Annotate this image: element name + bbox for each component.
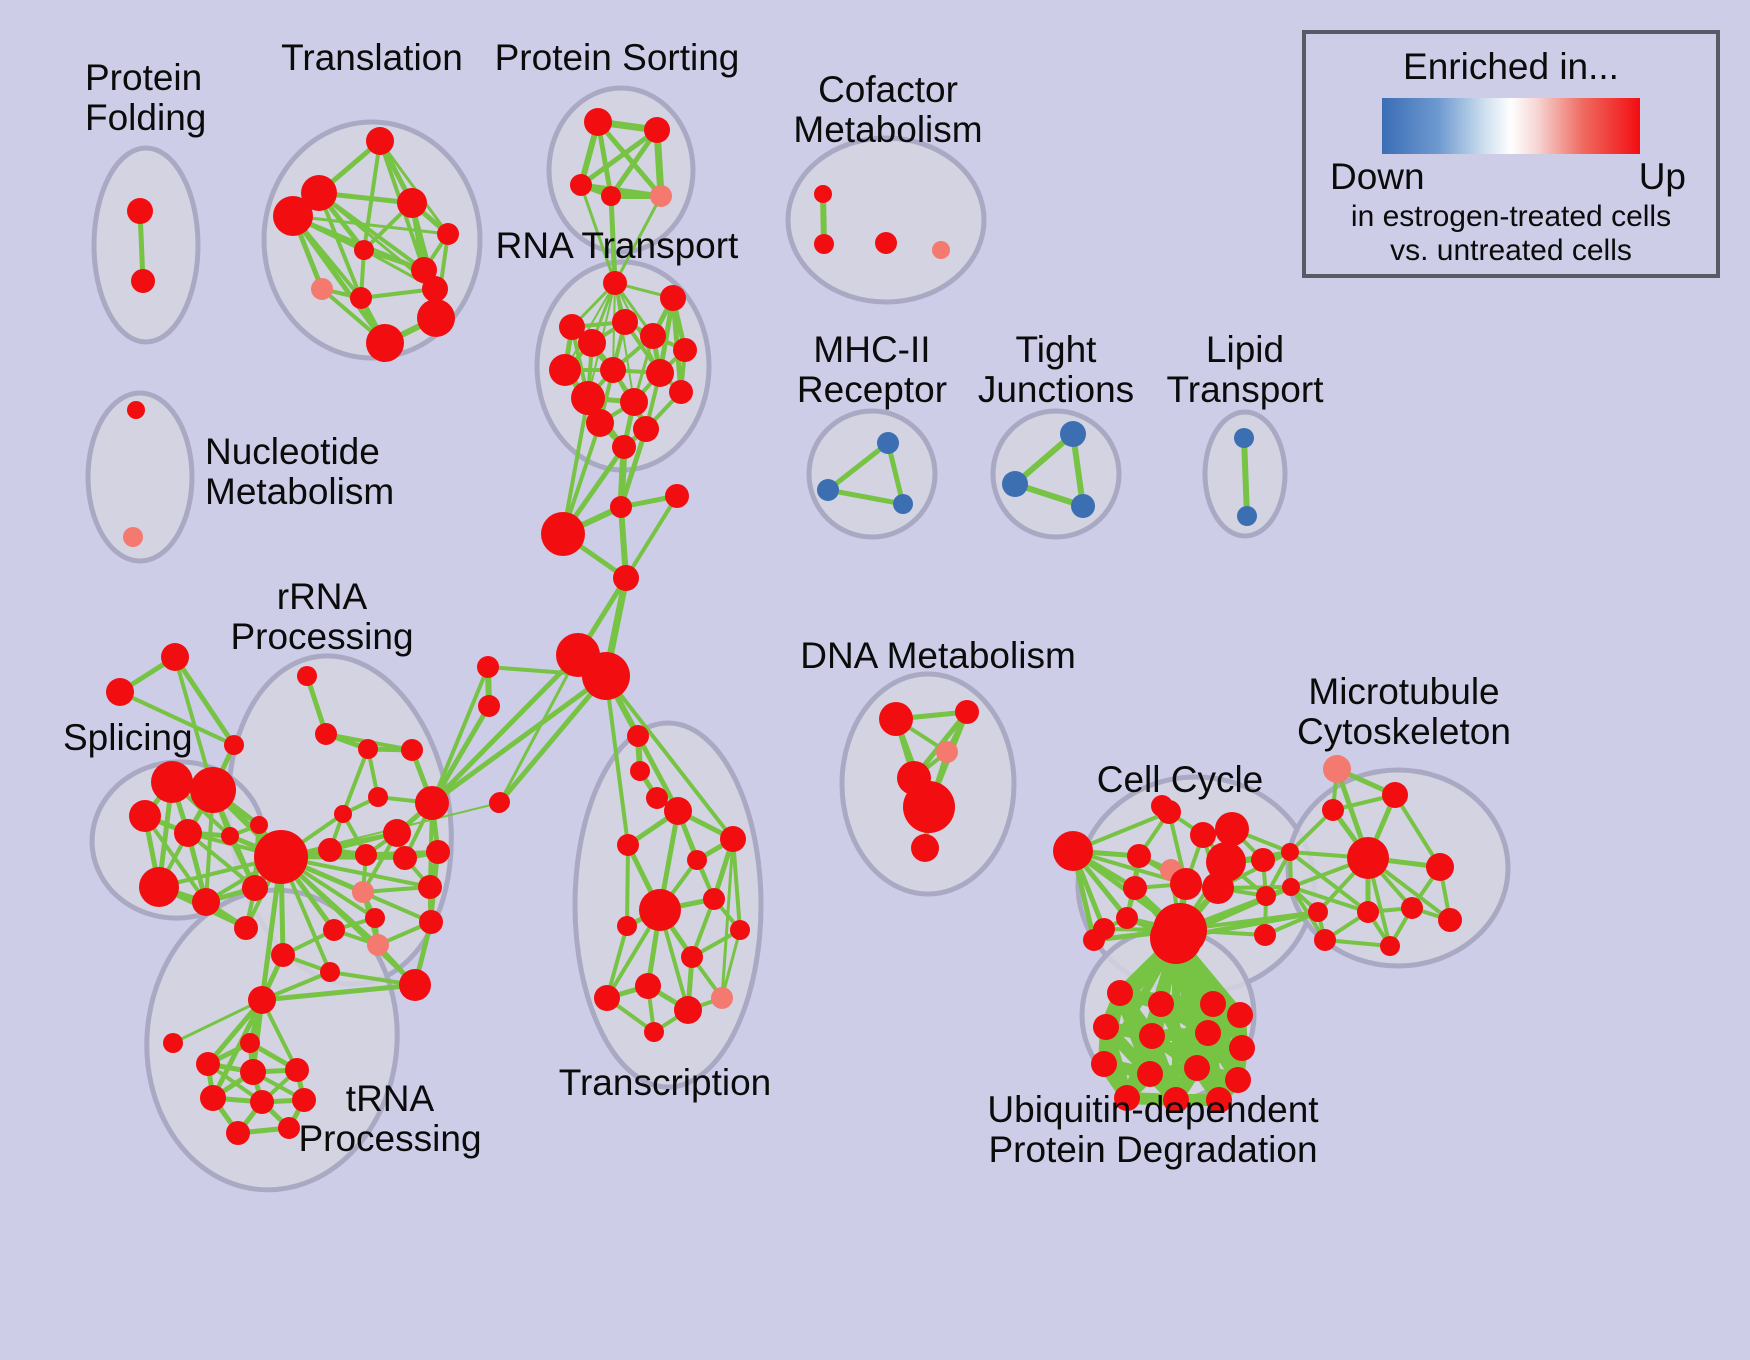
- network-node[interactable]: [650, 185, 672, 207]
- network-node[interactable]: [383, 819, 411, 847]
- network-edge: [627, 845, 628, 926]
- cluster-label-protein-sorting: Protein Sorting: [495, 38, 740, 78]
- network-node[interactable]: [1200, 991, 1226, 1017]
- network-node[interactable]: [877, 432, 899, 454]
- network-node[interactable]: [1195, 1020, 1221, 1046]
- network-node[interactable]: [903, 781, 955, 833]
- network-node[interactable]: [334, 805, 352, 823]
- cluster-hull-protein-folding: [94, 148, 198, 342]
- network-node[interactable]: [200, 1085, 226, 1111]
- network-node[interactable]: [393, 846, 417, 870]
- cluster-label-ubiquitin-degradation: Ubiquitin-dependent Protein Degradation: [987, 1090, 1318, 1170]
- network-node[interactable]: [1190, 822, 1216, 848]
- network-node[interactable]: [367, 934, 389, 956]
- network-node[interactable]: [399, 969, 431, 1001]
- network-node[interactable]: [350, 287, 372, 309]
- network-node[interactable]: [1137, 1061, 1163, 1087]
- network-node[interactable]: [1254, 924, 1276, 946]
- network-node[interactable]: [127, 401, 145, 419]
- network-node[interactable]: [315, 723, 337, 745]
- network-node[interactable]: [613, 565, 639, 591]
- network-node[interactable]: [365, 908, 385, 928]
- network-node[interactable]: [320, 962, 340, 982]
- network-node[interactable]: [879, 702, 913, 736]
- network-node[interactable]: [1357, 901, 1379, 923]
- network-node[interactable]: [221, 827, 239, 845]
- network-node[interactable]: [422, 276, 448, 302]
- network-node[interactable]: [594, 985, 620, 1011]
- legend-panel: Enriched in... Down Up in estrogen-treat…: [1302, 30, 1720, 278]
- network-node[interactable]: [1170, 868, 1202, 900]
- network-edge: [432, 655, 578, 803]
- network-edge: [500, 655, 578, 802]
- cluster-label-translation: Translation: [281, 38, 463, 78]
- network-node[interactable]: [1308, 902, 1328, 922]
- network-node[interactable]: [1282, 878, 1300, 896]
- network-node[interactable]: [1071, 494, 1095, 518]
- network-node[interactable]: [1237, 506, 1257, 526]
- network-node[interactable]: [601, 186, 621, 206]
- network-node[interactable]: [242, 875, 268, 901]
- network-node[interactable]: [687, 850, 707, 870]
- cluster-label-rrna-processing: rRNA Processing: [230, 577, 413, 657]
- network-node[interactable]: [354, 240, 374, 260]
- legend-endpoints: Down Up: [1330, 156, 1692, 200]
- cluster-label-protein-folding: Protein Folding: [85, 58, 206, 138]
- network-node[interactable]: [1093, 1014, 1119, 1040]
- network-node[interactable]: [161, 643, 189, 671]
- network-node[interactable]: [1314, 929, 1336, 951]
- cluster-label-cell-cycle: Cell Cycle: [1097, 760, 1264, 800]
- network-node[interactable]: [106, 678, 134, 706]
- network-node[interactable]: [633, 416, 659, 442]
- network-node[interactable]: [936, 741, 958, 763]
- network-node[interactable]: [814, 234, 834, 254]
- network-node[interactable]: [131, 269, 155, 293]
- network-node[interactable]: [401, 739, 423, 761]
- network-node[interactable]: [681, 946, 703, 968]
- network-node[interactable]: [1401, 897, 1423, 919]
- network-node[interactable]: [352, 881, 374, 903]
- network-node[interactable]: [297, 666, 317, 686]
- network-node[interactable]: [366, 127, 394, 155]
- network-node[interactable]: [234, 916, 258, 940]
- network-node[interactable]: [417, 299, 455, 337]
- network-node[interactable]: [273, 196, 313, 236]
- network-node[interactable]: [1116, 907, 1138, 929]
- network-node[interactable]: [610, 496, 632, 518]
- network-node[interactable]: [586, 409, 614, 437]
- network-node[interactable]: [669, 380, 693, 404]
- network-node[interactable]: [665, 484, 689, 508]
- network-node[interactable]: [646, 787, 668, 809]
- network-node[interactable]: [368, 787, 388, 807]
- network-node[interactable]: [1060, 421, 1086, 447]
- network-node[interactable]: [644, 1022, 664, 1042]
- network-node[interactable]: [600, 357, 626, 383]
- network-node[interactable]: [139, 867, 179, 907]
- network-node[interactable]: [1053, 831, 1093, 871]
- network-node[interactable]: [541, 512, 585, 556]
- network-node[interactable]: [817, 479, 839, 501]
- network-node[interactable]: [932, 241, 950, 259]
- network-node[interactable]: [814, 185, 832, 203]
- network-node[interactable]: [630, 761, 650, 781]
- network-node[interactable]: [311, 278, 333, 300]
- network-node[interactable]: [1127, 844, 1151, 868]
- network-node[interactable]: [366, 324, 404, 362]
- network-node[interactable]: [1227, 1002, 1253, 1028]
- network-node[interactable]: [617, 834, 639, 856]
- network-node[interactable]: [1093, 918, 1115, 940]
- legend-color-gradient-bar: [1382, 98, 1640, 154]
- cluster-label-tight-junctions: Tight Junctions: [978, 330, 1134, 410]
- network-node[interactable]: [1234, 428, 1254, 448]
- network-node[interactable]: [355, 844, 377, 866]
- network-node[interactable]: [226, 1121, 250, 1145]
- network-node[interactable]: [196, 1052, 220, 1076]
- network-node[interactable]: [1323, 755, 1351, 783]
- network-node[interactable]: [1229, 1035, 1255, 1061]
- network-node[interactable]: [240, 1033, 260, 1053]
- network-node[interactable]: [674, 996, 702, 1024]
- network-node[interactable]: [584, 108, 612, 136]
- network-node[interactable]: [278, 1117, 300, 1139]
- network-node[interactable]: [549, 354, 581, 386]
- network-node[interactable]: [240, 1059, 266, 1085]
- network-node[interactable]: [612, 435, 636, 459]
- legend-subtitle-line-1: in estrogen-treated cells: [1306, 200, 1716, 234]
- network-node[interactable]: [129, 800, 161, 832]
- network-node[interactable]: [1438, 908, 1462, 932]
- network-node[interactable]: [635, 973, 661, 999]
- network-node[interactable]: [673, 338, 697, 362]
- network-node[interactable]: [720, 826, 746, 852]
- network-node[interactable]: [250, 816, 268, 834]
- enrichment-network-figure: Protein FoldingTranslationProtein Sortin…: [0, 0, 1750, 1360]
- cluster-hull-mhc-ii-receptor: [809, 411, 935, 537]
- network-node[interactable]: [271, 943, 295, 967]
- network-node[interactable]: [437, 223, 459, 245]
- network-node[interactable]: [570, 174, 592, 196]
- network-node[interactable]: [1251, 848, 1275, 872]
- network-node[interactable]: [955, 700, 979, 724]
- network-node[interactable]: [418, 875, 442, 899]
- network-node[interactable]: [248, 986, 276, 1014]
- network-node[interactable]: [1256, 886, 1276, 906]
- network-node[interactable]: [163, 1033, 183, 1053]
- cluster-label-splicing: Splicing: [63, 718, 193, 758]
- network-node[interactable]: [1184, 1055, 1210, 1081]
- cluster-label-transcription: Transcription: [559, 1063, 771, 1103]
- network-node[interactable]: [1002, 471, 1028, 497]
- legend-title: Enriched in...: [1306, 46, 1716, 88]
- network-node[interactable]: [426, 840, 450, 864]
- network-node[interactable]: [490, 792, 510, 812]
- network-node[interactable]: [911, 834, 939, 862]
- network-node[interactable]: [1202, 872, 1234, 904]
- network-node[interactable]: [1139, 1023, 1165, 1049]
- network-node[interactable]: [703, 888, 725, 910]
- network-node[interactable]: [617, 916, 637, 936]
- network-node[interactable]: [1347, 837, 1389, 879]
- network-node[interactable]: [612, 309, 638, 335]
- network-node[interactable]: [711, 987, 733, 1009]
- cluster-label-mhc-ii-receptor: MHC-II Receptor: [797, 330, 947, 410]
- network-node[interactable]: [1382, 782, 1408, 808]
- network-node[interactable]: [627, 725, 649, 747]
- network-node[interactable]: [174, 819, 202, 847]
- network-node[interactable]: [660, 285, 686, 311]
- network-node[interactable]: [893, 494, 913, 514]
- network-node[interactable]: [603, 271, 627, 295]
- network-node[interactable]: [582, 652, 630, 700]
- network-node[interactable]: [1215, 812, 1249, 846]
- network-node[interactable]: [664, 797, 692, 825]
- network-node[interactable]: [151, 761, 193, 803]
- network-node[interactable]: [224, 735, 244, 755]
- network-node[interactable]: [1322, 799, 1344, 821]
- network-edge: [626, 496, 677, 578]
- network-node[interactable]: [127, 198, 153, 224]
- cluster-label-lipid-transport: Lipid Transport: [1167, 330, 1324, 410]
- network-node[interactable]: [250, 1090, 274, 1114]
- network-node[interactable]: [323, 919, 345, 941]
- network-node[interactable]: [358, 739, 378, 759]
- network-node[interactable]: [646, 359, 674, 387]
- network-node[interactable]: [192, 888, 220, 916]
- network-node[interactable]: [478, 695, 500, 717]
- network-node[interactable]: [1150, 912, 1202, 964]
- network-node[interactable]: [730, 920, 750, 940]
- network-node[interactable]: [1426, 853, 1454, 881]
- network-node[interactable]: [254, 830, 308, 884]
- network-node[interactable]: [190, 767, 236, 813]
- network-node[interactable]: [318, 838, 342, 862]
- cluster-label-rna-transport: RNA Transport: [496, 226, 739, 266]
- legend-high-label: Up: [1639, 156, 1686, 198]
- network-node[interactable]: [639, 889, 681, 931]
- network-node[interactable]: [477, 656, 499, 678]
- network-node[interactable]: [419, 910, 443, 934]
- legend-subtitle-line-2: vs. untreated cells: [1306, 234, 1716, 268]
- cluster-label-trna-processing: tRNA Processing: [298, 1079, 481, 1159]
- network-node[interactable]: [1380, 936, 1400, 956]
- network-node[interactable]: [644, 117, 670, 143]
- network-node[interactable]: [397, 188, 427, 218]
- network-node[interactable]: [123, 527, 143, 547]
- cluster-label-dna-metabolism: DNA Metabolism: [800, 636, 1076, 676]
- network-node[interactable]: [1107, 980, 1133, 1006]
- cluster-hull-cofactor-metabolism: [788, 138, 984, 302]
- cluster-label-microtubule-cytoskeleton: Microtubule Cytoskeleton: [1297, 672, 1511, 752]
- cluster-label-cofactor-metabolism: Cofactor Metabolism: [793, 70, 982, 150]
- network-node[interactable]: [875, 232, 897, 254]
- cluster-label-nucleotide-metabolism: Nucleotide Metabolism: [205, 432, 394, 512]
- network-edge: [1244, 438, 1247, 516]
- legend-low-label: Down: [1330, 156, 1425, 198]
- network-node[interactable]: [640, 323, 666, 349]
- network-node[interactable]: [620, 388, 648, 416]
- network-node[interactable]: [1091, 1051, 1117, 1077]
- network-node[interactable]: [1123, 876, 1147, 900]
- network-node[interactable]: [1148, 991, 1174, 1017]
- network-node[interactable]: [1281, 843, 1299, 861]
- network-node[interactable]: [578, 329, 606, 357]
- network-node[interactable]: [415, 786, 449, 820]
